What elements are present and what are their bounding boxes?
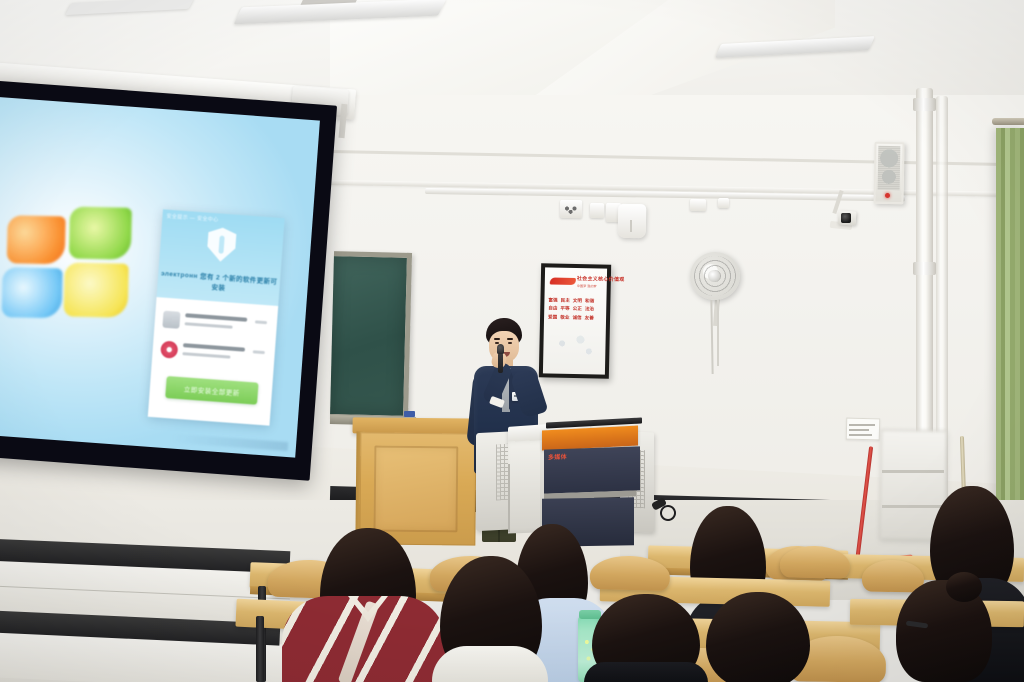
junction-box xyxy=(618,204,647,238)
poster-illustration xyxy=(551,330,600,365)
wall-fan-pull-cord[interactable] xyxy=(717,300,719,366)
poster-value: 文明 xyxy=(573,298,582,305)
notice-text-line xyxy=(849,429,869,431)
light-switch[interactable] xyxy=(590,203,604,218)
power-socket-holes xyxy=(563,204,579,214)
multimedia-podium[interactable]: 多媒体 xyxy=(476,418,686,558)
junction-box-slot xyxy=(630,220,632,232)
microphone-body[interactable] xyxy=(498,353,503,373)
chair-support-post xyxy=(256,616,264,682)
poster-logo-icon xyxy=(550,277,576,285)
projected-desktop: 安全提示 — 安全中心 электронн 您有 2 个新的软件更新可安装 xyxy=(0,96,320,457)
presenter-eyebrow xyxy=(494,338,500,340)
poster-value: 平等 xyxy=(560,306,569,313)
install-updates-label: 立即安装全部更新 xyxy=(165,376,258,405)
cabinet-shelf xyxy=(882,470,944,473)
classroom-photo: 安全提示 — 安全中心 электронн 您有 2 个新的软件更新可安装 xyxy=(0,0,1024,682)
student-torso xyxy=(584,662,708,682)
wall-fan-hub xyxy=(708,270,720,282)
poster-value: 公正 xyxy=(573,306,582,313)
update-item-meta xyxy=(185,322,233,329)
podium-front-edge xyxy=(508,464,510,532)
update-item-name xyxy=(183,343,245,352)
pipe-collar xyxy=(913,262,936,275)
notice-text-line xyxy=(849,424,875,426)
lectern-front-panel xyxy=(373,446,458,533)
update-item-meta xyxy=(182,352,230,359)
install-updates-button[interactable]: 立即安装全部更新 xyxy=(165,376,258,405)
update-item-name xyxy=(185,313,247,322)
poster-value: 富强 xyxy=(548,297,557,304)
chalk-eraser[interactable] xyxy=(404,411,415,417)
student-hair-bun xyxy=(946,572,982,602)
poster-value: 自由 xyxy=(548,306,557,313)
microphone-icon[interactable] xyxy=(497,344,504,354)
poster-value: 友善 xyxy=(585,315,594,322)
speaker-power-led xyxy=(885,193,890,198)
security-update-dialog[interactable]: 安全提示 — 安全中心 электронн 您有 2 个新的软件更新可安装 xyxy=(148,209,285,425)
poster-title: 社会主义核心价值观 xyxy=(577,275,625,283)
poster-value: 法治 xyxy=(585,307,594,314)
dialog-body: 立即安装全部更新 xyxy=(148,297,278,426)
windows-logo-icon xyxy=(2,205,134,324)
wall-speaker-grille xyxy=(878,146,901,190)
power-socket[interactable] xyxy=(718,198,729,208)
poster-value: 和谐 xyxy=(585,298,594,305)
curtain-rod xyxy=(992,118,1024,125)
update-item-size xyxy=(253,350,265,354)
projection-screen[interactable]: 安全提示 — 安全中心 электронн 您有 2 个新的软件更新可安装 xyxy=(0,80,337,481)
student-torso xyxy=(432,646,548,682)
poster-value: 民主 xyxy=(561,298,570,305)
notice-text-line xyxy=(849,434,872,436)
window-curtain[interactable] xyxy=(996,128,1024,528)
poster-subtitle: 中国梦 我的梦 xyxy=(577,283,597,288)
update-list-item[interactable] xyxy=(162,308,270,342)
chalkboard xyxy=(330,251,412,421)
poster-value: 敬业 xyxy=(560,314,569,321)
media-player-icon xyxy=(160,341,178,359)
power-socket[interactable] xyxy=(690,199,706,211)
presenter-eye xyxy=(508,342,512,344)
update-list-item[interactable] xyxy=(160,338,268,372)
cabinet-shelf xyxy=(882,505,944,508)
update-item-size xyxy=(255,320,267,324)
presenter-eyebrow xyxy=(507,338,513,340)
poster-value: 诚信 xyxy=(572,315,581,322)
podium-brand-logo: 多媒体 xyxy=(548,452,567,462)
water-bottle-cap[interactable] xyxy=(579,610,601,619)
pipe-collar xyxy=(913,98,936,111)
camera-lens-icon xyxy=(841,213,851,223)
desktop-taskbar xyxy=(170,433,288,451)
document-icon xyxy=(162,311,180,329)
